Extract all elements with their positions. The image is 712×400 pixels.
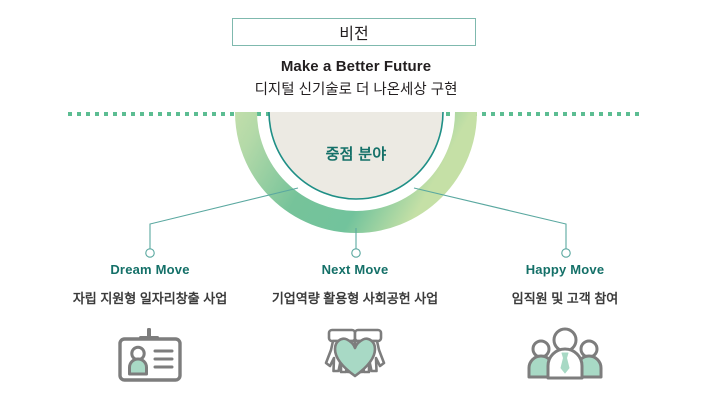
branch-next-description: 기업역량 활용형 사회공헌 사업 xyxy=(245,290,465,307)
connector-node-right xyxy=(562,249,570,257)
branch-dream-description: 자립 지원형 일자리창출 사업 xyxy=(40,290,260,307)
branch-dream-title: Dream Move xyxy=(40,262,260,278)
hands-heart-icon xyxy=(315,326,395,384)
branch-next-title: Next Move xyxy=(245,262,465,278)
three-people-icon-wrap xyxy=(455,326,675,384)
branch-happy-title: Happy Move xyxy=(455,262,675,278)
connector-node-left xyxy=(146,249,154,257)
branch-happy-description: 임직원 및 고객 참여 xyxy=(455,290,675,307)
core-semicircle-graphic xyxy=(228,112,484,236)
core-label: 중점 분야 xyxy=(228,143,484,164)
three-people-icon xyxy=(526,326,604,384)
vision-title-box: 비전 xyxy=(232,18,476,46)
branch-next[interactable]: Next Move 기업역량 활용형 사회공헌 사업 xyxy=(245,262,465,307)
vision-title-label: 비전 xyxy=(339,20,368,44)
branch-dream[interactable]: Dream Move 자립 지원형 일자리창출 사업 xyxy=(40,262,260,307)
connector-node-center xyxy=(352,249,360,257)
vision-headline: Make a Better Future xyxy=(0,58,712,75)
vision-subline: 디지털 신기술로 더 나온세상 구현 xyxy=(0,78,712,99)
hands-heart-icon-wrap xyxy=(245,326,465,384)
id-card-icon xyxy=(114,326,186,384)
branch-happy[interactable]: Happy Move 임직원 및 고객 참여 xyxy=(455,262,675,307)
id-card-icon-wrap xyxy=(40,326,260,384)
